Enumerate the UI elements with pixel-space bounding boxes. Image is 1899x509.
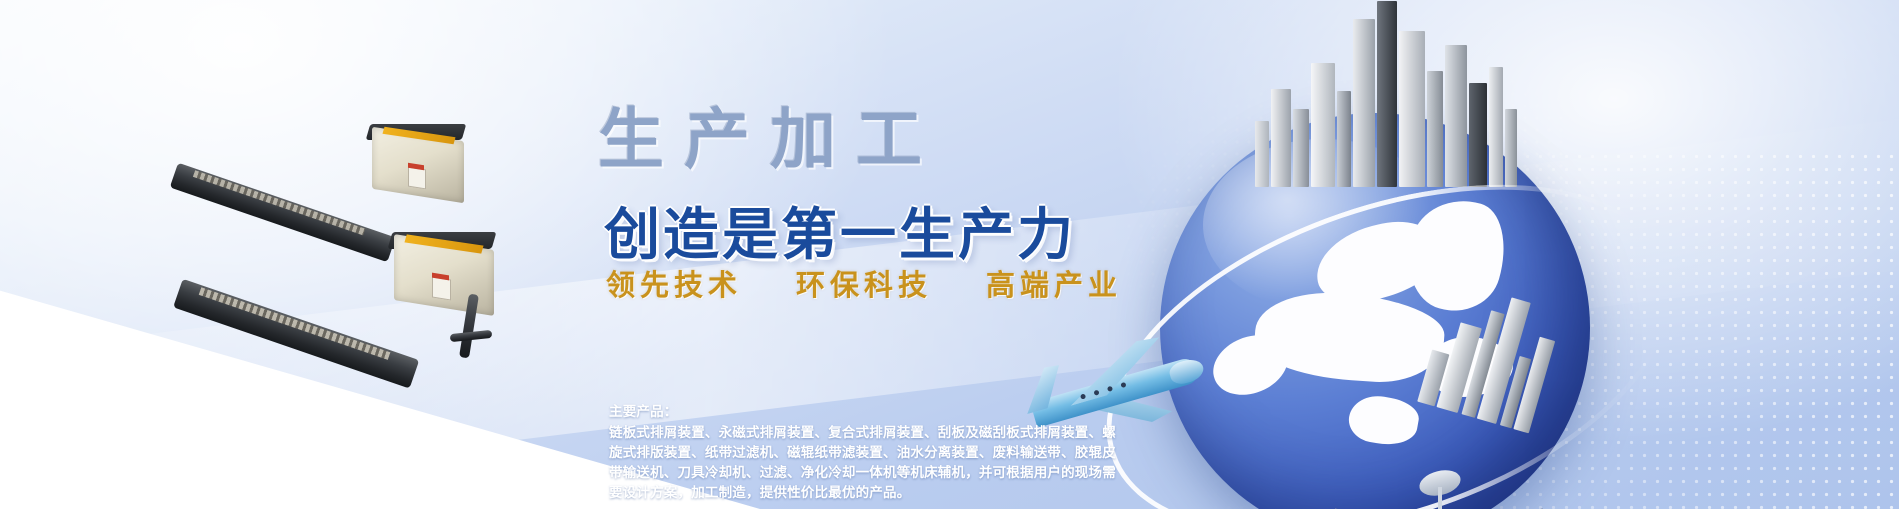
- chip-conveyor-machine-illustration: [150, 120, 530, 350]
- city-skyline-illustration: [1255, 0, 1525, 187]
- conveyor-lower: [164, 182, 564, 362]
- banner-tagline-row: 领先技术 环保科技 高端产业: [606, 262, 1122, 304]
- banner-headline: 生产加工: [598, 86, 942, 182]
- tagline-1: 领先技术: [606, 262, 742, 304]
- tagline-2: 环保科技: [796, 262, 932, 304]
- product-description-block: 主要产品： 链板式排屑装置、永磁式排屑装置、复合式排屑装置、刮板及磁刮板式排屑装…: [609, 402, 1127, 503]
- globe-illustration: [1105, 85, 1665, 509]
- product-description-paragraph: 链板式排屑装置、永磁式排屑装置、复合式排屑装置、刮板及磁刮板式排屑装置、螺旋式排…: [609, 423, 1127, 503]
- promotional-banner: 生产加工 创造是第一生产力 领先技术 环保科技 高端产业 主要产品： 链板式排屑…: [0, 0, 1899, 509]
- tagline-3: 高端产业: [986, 262, 1122, 304]
- banner-subheadline: 创造是第一生产力: [604, 190, 1076, 271]
- product-description-lead: 主要产品：: [609, 402, 1127, 422]
- satellite-illustration: [1335, 487, 1545, 509]
